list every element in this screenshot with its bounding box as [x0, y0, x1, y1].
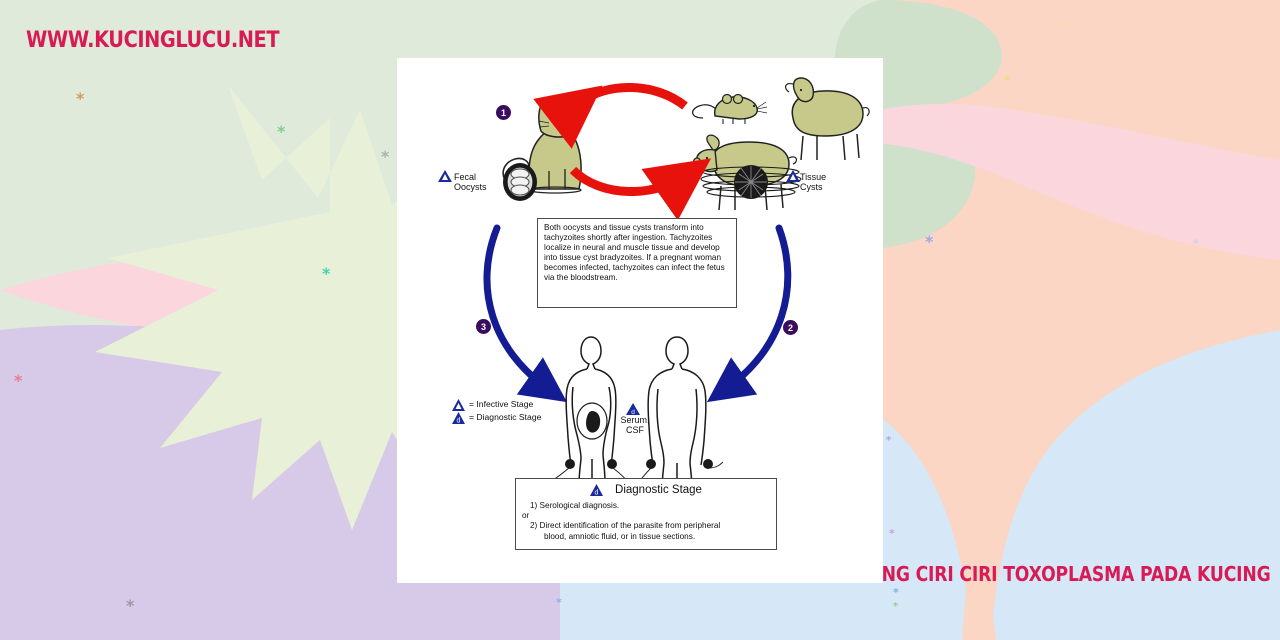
- screenshot-root: * * * * * * * * * * * * * * * * * * * WW…: [0, 0, 1280, 640]
- svg-text:d: d: [457, 417, 461, 424]
- svg-text:*: *: [76, 89, 85, 108]
- hand-left: [565, 459, 575, 469]
- svg-text:*: *: [381, 147, 390, 166]
- sheep-figure: [786, 78, 870, 160]
- diagnostic-stage-title-row: d Diagnostic Stage: [522, 483, 770, 498]
- svg-text:*: *: [925, 232, 934, 251]
- infective-triangle-icon-fecal: [438, 170, 452, 182]
- legend-label-infective: = Infective Stage: [469, 398, 533, 411]
- hand-left-man: [646, 459, 656, 469]
- legend-row-diagnostic: d = Diagnostic Stage: [452, 411, 541, 424]
- red-arrow-top: [581, 87, 685, 106]
- diagnostic-item-2-cont: blood, amniotic fluid, or in tissue sect…: [522, 532, 770, 542]
- diagnostic-triangle-icon-title: d: [590, 484, 603, 496]
- hand-right: [607, 459, 617, 469]
- step-badge-1: 1: [496, 105, 511, 120]
- svg-text:*: *: [1193, 237, 1199, 250]
- svg-text:*: *: [277, 122, 286, 141]
- diagnostic-item-2: 2) Direct identification of the parasite…: [522, 521, 770, 531]
- label-serum-csf: Serum, CSF: [613, 415, 657, 435]
- legend-row-infective: = Infective Stage: [452, 398, 541, 411]
- svg-text:*: *: [1063, 22, 1069, 33]
- mouse-figure: [693, 95, 767, 125]
- svg-text:*: *: [126, 596, 135, 615]
- svg-text:*: *: [1004, 74, 1010, 87]
- svg-text:*: *: [889, 527, 895, 540]
- diagram-panel: d d 1 2 3 Fecal Oocysts Tissue Cysts Ser…: [397, 58, 883, 583]
- label-tissue-cysts: Tissue Cysts: [800, 172, 826, 192]
- site-watermark: WWW.KUCINGLUCU.NET: [26, 28, 279, 53]
- diagnostic-triangle-icon: d: [452, 412, 465, 424]
- red-arrow-bottom: [573, 170, 689, 192]
- info-text: Both oocysts and tissue cysts transform …: [544, 223, 725, 282]
- svg-text:d: d: [595, 490, 599, 497]
- infective-triangle-icon: [452, 399, 465, 411]
- label-fecal-oocysts: Fecal Oocysts: [454, 172, 487, 192]
- stage-legend: = Infective Stage d = Diagnostic Stage: [452, 398, 541, 424]
- svg-text:*: *: [556, 596, 562, 609]
- diagnostic-stage-box: d Diagnostic Stage 1) Serological diagno…: [515, 478, 777, 550]
- diagnostic-stage-title: Diagnostic Stage: [615, 483, 702, 498]
- step-badge-2: 2: [783, 320, 798, 335]
- info-text-box: Both oocysts and tissue cysts transform …: [537, 218, 737, 308]
- svg-text:*: *: [886, 435, 892, 446]
- svg-text:*: *: [893, 601, 899, 612]
- diagnostic-or: or: [522, 511, 770, 521]
- svg-text:*: *: [322, 264, 331, 283]
- legend-label-diagnostic: = Diagnostic Stage: [469, 411, 541, 424]
- diagnostic-item-1: 1) Serological diagnosis.: [522, 501, 770, 511]
- svg-text:*: *: [14, 371, 23, 390]
- step-badge-3: 3: [476, 319, 491, 334]
- oocyst-figure: [503, 163, 537, 201]
